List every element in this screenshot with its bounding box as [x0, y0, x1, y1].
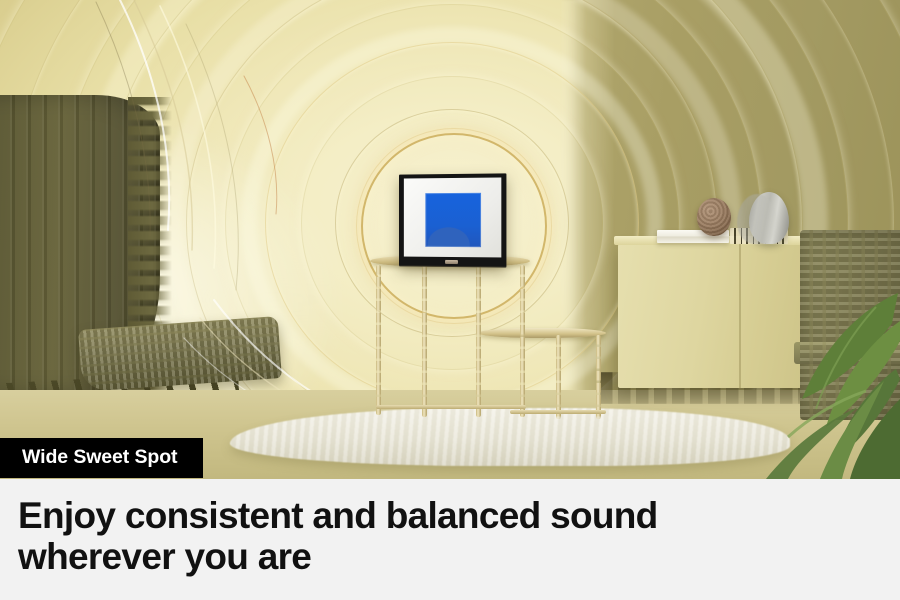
side-table-leg	[556, 335, 561, 419]
side-table-leg	[520, 265, 525, 417]
side-table-leg	[596, 335, 601, 419]
side-table-rail	[510, 410, 606, 414]
frame-brand-badge	[445, 260, 458, 264]
decor-sphere	[697, 198, 731, 236]
side-table	[360, 255, 610, 420]
decor-vase	[749, 192, 789, 244]
side-table-leg	[422, 265, 427, 417]
side-table-leg	[376, 265, 381, 415]
side-table-lower-top	[478, 328, 606, 338]
side-table-leg	[476, 265, 481, 417]
caption-block: Enjoy consistent and balanced sound wher…	[0, 479, 900, 600]
artwork-blue-square	[425, 193, 481, 247]
category-badge-label: Wide Sweet Spot	[22, 448, 177, 468]
framed-artwork	[399, 173, 506, 266]
armchair-left-seat	[78, 316, 282, 392]
side-table-rail	[376, 405, 526, 409]
plant	[670, 249, 900, 479]
hero-image	[0, 0, 900, 479]
artwork-mat	[404, 177, 501, 257]
armchair-left	[0, 95, 260, 425]
decor-vase-ripple-echo	[737, 194, 777, 244]
promo-card: Wide Sweet Spot Enjoy consistent and bal…	[0, 0, 900, 600]
caption-headline: Enjoy consistent and balanced sound wher…	[18, 495, 778, 578]
category-badge: Wide Sweet Spot	[0, 438, 203, 478]
